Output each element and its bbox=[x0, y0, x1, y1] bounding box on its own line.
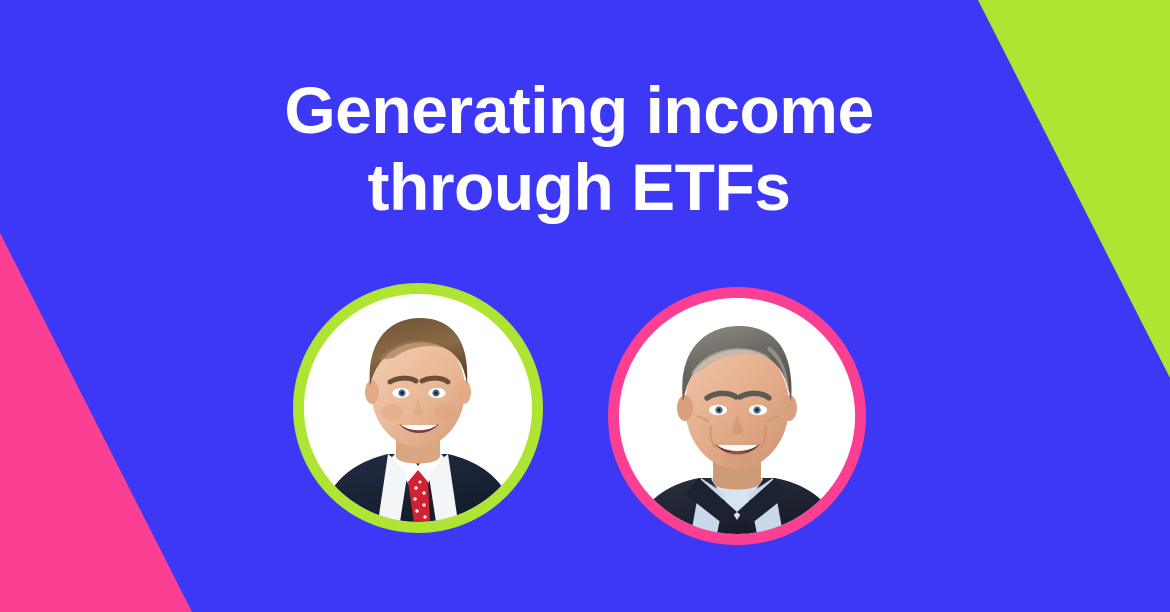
speaker-portraits bbox=[0, 0, 1170, 612]
avatar-speaker-right bbox=[608, 287, 866, 545]
portrait-older-man-image bbox=[619, 298, 855, 534]
avatar-speaker-left bbox=[293, 283, 543, 533]
portrait-young-man-image bbox=[304, 294, 532, 522]
promo-banner: Generating income through ETFs bbox=[0, 0, 1170, 612]
